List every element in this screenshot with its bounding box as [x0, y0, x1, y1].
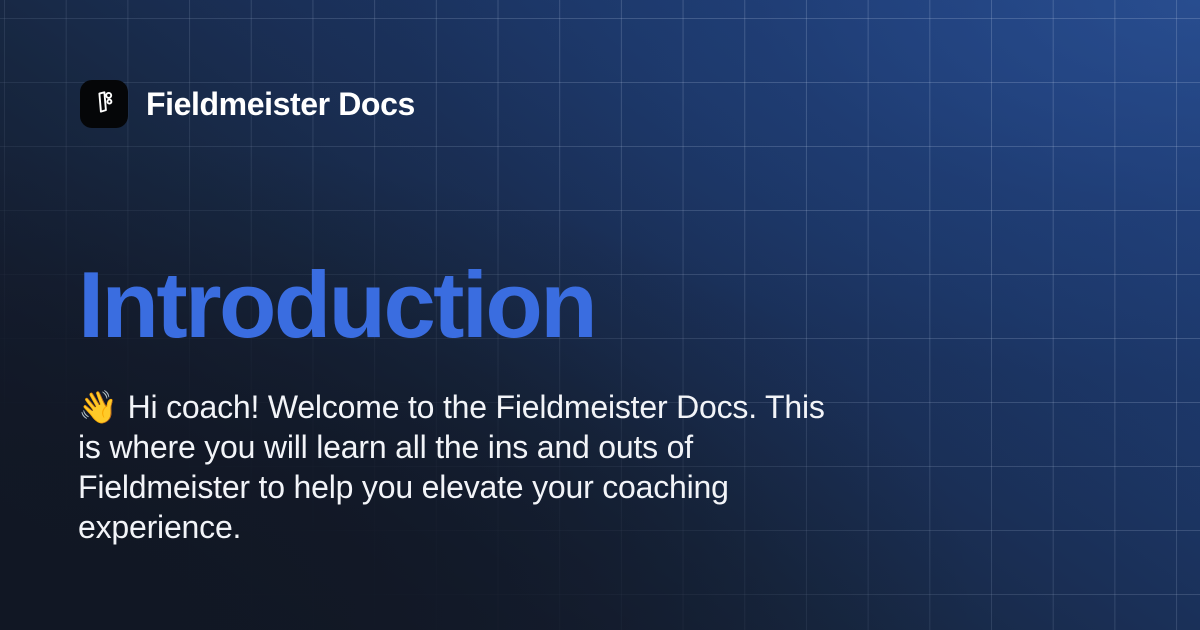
waving-hand-icon: 👋: [78, 388, 128, 426]
og-card: Fieldmeister Docs Introduction 👋 Hi coac…: [0, 0, 1200, 630]
page-description-text: Hi coach! Welcome to the Fieldmeister Do…: [78, 389, 825, 545]
page-title: Introduction: [78, 258, 595, 352]
brand-title: Fieldmeister Docs: [146, 88, 415, 120]
brand-row: Fieldmeister Docs: [80, 80, 415, 128]
page-description: 👋 Hi coach! Welcome to the Fieldmeister …: [78, 387, 848, 547]
fieldmeister-flag-icon: [80, 80, 128, 128]
card-content: Fieldmeister Docs Introduction 👋 Hi coac…: [0, 0, 1200, 630]
